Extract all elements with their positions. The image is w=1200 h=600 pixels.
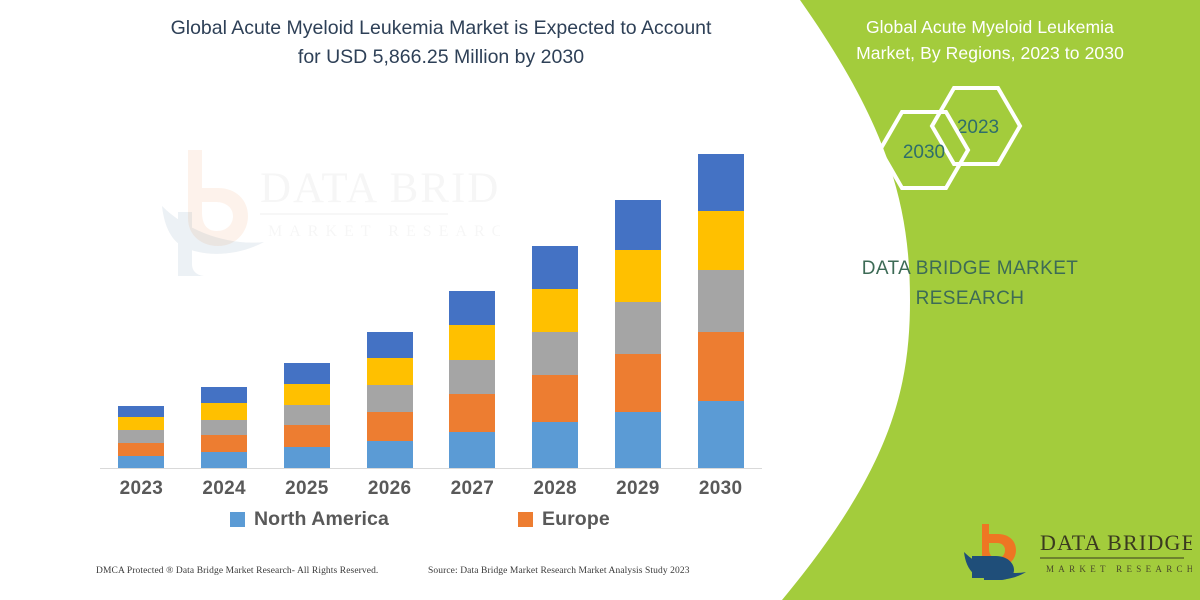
bar-column-2026	[367, 332, 413, 468]
bar-segment	[118, 430, 164, 442]
bar-segment	[532, 332, 578, 375]
bar-segment	[201, 403, 247, 420]
x-axis-label-2029: 2029	[597, 478, 679, 500]
bar-segment	[698, 401, 744, 468]
bar-segment	[367, 332, 413, 358]
bar-segment	[615, 200, 661, 250]
x-axis-label-2023: 2023	[100, 478, 182, 500]
bar-chart-plot-area	[100, 140, 762, 468]
bar-segment	[367, 385, 413, 411]
bar-segment	[615, 250, 661, 302]
bar-column-2023	[118, 406, 164, 468]
bar-segment	[201, 435, 247, 452]
legend-label: Europe	[542, 508, 610, 531]
bar-segment	[284, 447, 330, 468]
panel-subtitle: DATA BRIDGE MARKET RESEARCH	[800, 254, 1140, 314]
bar-segment	[284, 363, 330, 383]
bar-segment	[118, 417, 164, 430]
brand-logo-svg: DATA BRIDGE MARKET RESEARCH	[962, 522, 1192, 582]
panel-subtitle-line-2: RESEARCH	[800, 284, 1140, 314]
bar-segment	[532, 289, 578, 332]
badge-end-year: 2030	[880, 112, 968, 188]
badge-start-year-label: 2023	[957, 117, 999, 138]
legend-swatch-icon	[518, 512, 533, 527]
logo-subtitle: MARKET RESEARCH	[1046, 564, 1192, 574]
year-badges: 2023 2030	[770, 0, 1200, 260]
bar-segment	[449, 291, 495, 324]
bar-segment	[118, 443, 164, 456]
legend-swatch-icon	[230, 512, 245, 527]
bar-segment	[367, 412, 413, 441]
bar-segment	[449, 432, 495, 468]
bar-segment	[201, 452, 247, 468]
brand-logo: DATA BRIDGE MARKET RESEARCH	[962, 522, 1192, 582]
bar-segment	[449, 394, 495, 432]
bar-column-2028	[532, 246, 578, 468]
bar-segment	[201, 420, 247, 436]
bar-segment	[367, 441, 413, 468]
year-badges-svg: 2023 2030	[770, 0, 1200, 260]
legend-item-north-america[interactable]: North America	[230, 508, 389, 531]
legend-item-europe[interactable]: Europe	[518, 508, 610, 531]
logo-title: DATA BRIDGE	[1040, 530, 1192, 555]
bar-segment	[698, 332, 744, 401]
bar-segment	[201, 387, 247, 403]
badge-start-year: 2023	[932, 88, 1020, 164]
bar-segment	[532, 246, 578, 288]
x-axis-line	[100, 468, 762, 469]
x-axis-label-2028: 2028	[514, 478, 596, 500]
footer-copyright: DMCA Protected ® Data Bridge Market Rese…	[96, 566, 378, 576]
bar-segment	[698, 211, 744, 270]
page-title-line-2: for USD 5,866.25 Million by 2030	[96, 43, 786, 72]
bar-segment	[367, 358, 413, 385]
bar-segment	[615, 354, 661, 412]
bar-segment	[284, 405, 330, 425]
infographic-canvas: Global Acute Myeloid Leukemia Market is …	[0, 0, 1200, 600]
x-axis-label-2025: 2025	[266, 478, 348, 500]
bar-column-2030	[698, 154, 744, 468]
x-axis-label-2024: 2024	[183, 478, 265, 500]
badge-end-year-label: 2030	[903, 142, 945, 163]
bar-segment	[698, 154, 744, 211]
bar-segment	[532, 422, 578, 468]
green-side-panel: Global Acute Myeloid Leukemia Market, By…	[770, 0, 1200, 600]
page-title: Global Acute Myeloid Leukemia Market is …	[96, 14, 786, 72]
page-title-line-1: Global Acute Myeloid Leukemia Market is …	[96, 14, 786, 43]
bar-segment	[118, 456, 164, 468]
bar-segment	[698, 270, 744, 332]
chart-legend: North AmericaEurope	[100, 508, 762, 540]
footer-source: Source: Data Bridge Market Research Mark…	[428, 566, 690, 576]
bar-segment	[532, 375, 578, 422]
bar-segment	[284, 425, 330, 447]
panel-subtitle-line-1: DATA BRIDGE MARKET	[800, 254, 1140, 284]
x-axis-label-2027: 2027	[431, 478, 513, 500]
x-axis-label-2026: 2026	[349, 478, 431, 500]
bar-segment	[284, 384, 330, 405]
bar-segment	[449, 360, 495, 394]
bar-segment	[449, 325, 495, 360]
bar-column-2025	[284, 363, 330, 468]
x-axis-label-2030: 2030	[680, 478, 762, 500]
x-axis-tick-labels: 20232024202520262027202820292030	[100, 478, 762, 504]
bar-segment	[615, 412, 661, 468]
legend-label: North America	[254, 508, 389, 531]
bar-segment	[118, 406, 164, 417]
bar-column-2029	[615, 200, 661, 468]
bar-segment	[615, 302, 661, 354]
bar-column-2027	[449, 291, 495, 468]
bar-column-2024	[201, 387, 247, 468]
footer: DMCA Protected ® Data Bridge Market Rese…	[0, 566, 790, 588]
